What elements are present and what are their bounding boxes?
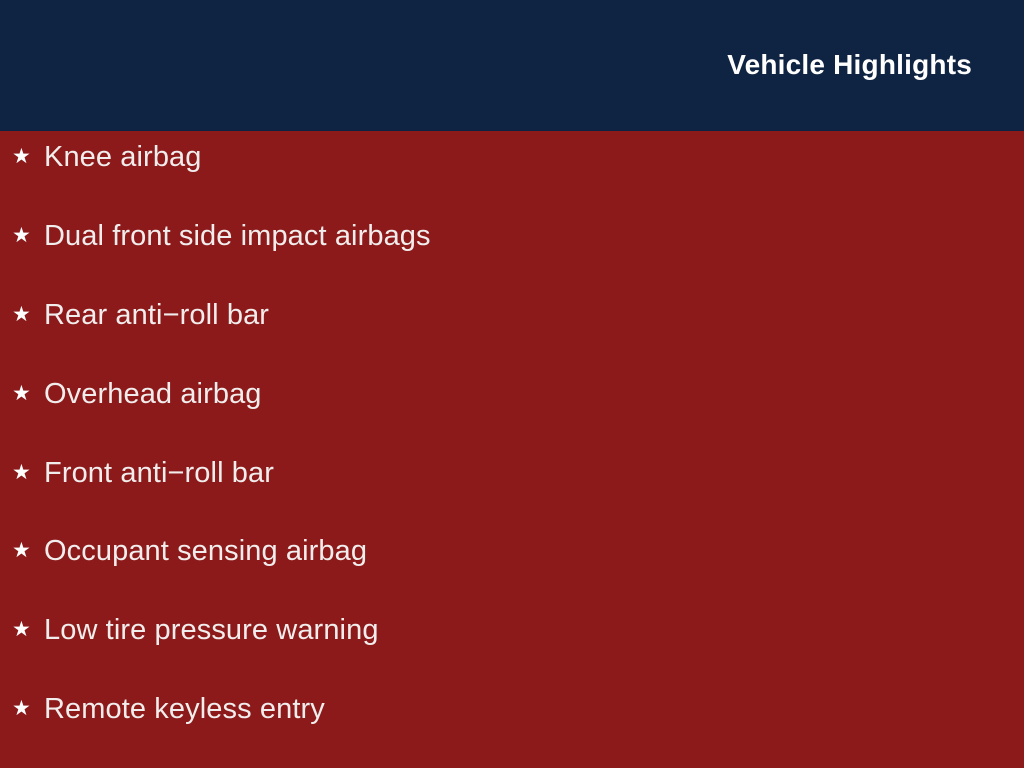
list-item: ★ Low tire pressure warning (0, 604, 1024, 683)
star-bullet-icon: ★ (12, 696, 34, 722)
star-bullet-icon: ★ (12, 460, 34, 486)
slide-body: ★ Knee airbag ★ Dual front side impact a… (0, 131, 1024, 768)
list-item: ★ Remote keyless entry (0, 683, 1024, 762)
star-bullet-icon: ★ (12, 538, 34, 564)
list-item: ★ Occupant sensing airbag (0, 525, 1024, 604)
star-bullet-icon: ★ (12, 381, 34, 407)
star-bullet-icon: ★ (12, 302, 34, 328)
list-item: ★ Front anti−roll bar (0, 447, 1024, 526)
list-item: ★ Overhead airbag (0, 368, 1024, 447)
vehicle-highlights-slide: Vehicle Highlights ★ Knee airbag ★ Dual … (0, 0, 1024, 768)
star-bullet-icon: ★ (12, 144, 34, 170)
vehicle-highlights-list: ★ Knee airbag ★ Dual front side impact a… (0, 131, 1024, 762)
list-item-label: Dual front side impact airbags (44, 218, 431, 254)
list-item-label: Remote keyless entry (44, 691, 325, 727)
list-item-label: Knee airbag (44, 139, 202, 175)
star-bullet-icon: ★ (12, 223, 34, 249)
page-title: Vehicle Highlights (727, 48, 972, 82)
list-item: ★ Knee airbag (0, 131, 1024, 210)
list-item-label: Rear anti−roll bar (44, 297, 269, 333)
list-item-label: Front anti−roll bar (44, 455, 274, 491)
list-item-label: Low tire pressure warning (44, 612, 379, 648)
list-item-label: Overhead airbag (44, 376, 262, 412)
list-item: ★ Rear anti−roll bar (0, 289, 1024, 368)
star-bullet-icon: ★ (12, 617, 34, 643)
list-item: ★ Dual front side impact airbags (0, 210, 1024, 289)
list-item-label: Occupant sensing airbag (44, 533, 367, 569)
slide-header-band: Vehicle Highlights (0, 0, 1024, 131)
